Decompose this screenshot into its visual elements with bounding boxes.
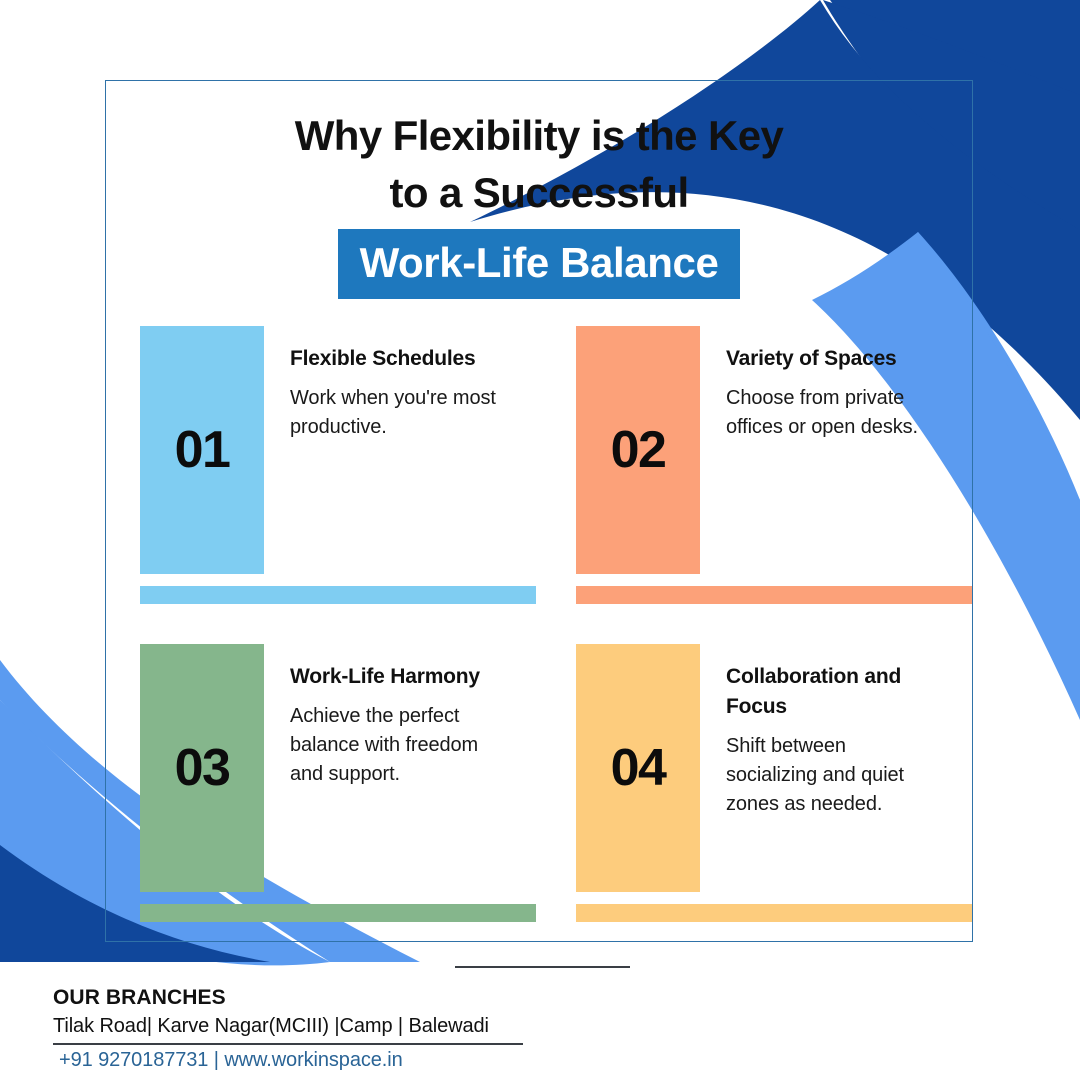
card-underline-bar xyxy=(576,586,972,604)
title-line-2: to a Successful xyxy=(105,165,973,222)
card-underline-bar xyxy=(576,904,972,922)
card-number: 04 xyxy=(611,742,666,794)
card-number: 03 xyxy=(175,742,230,794)
card-number-block: 04 xyxy=(576,644,700,892)
title-line-1: Why Flexibility is the Key xyxy=(105,108,973,165)
contact-line[interactable]: +91 9270187731 | www.workinspace.in xyxy=(53,1047,533,1073)
card-description: Choose from private offices or open desk… xyxy=(726,384,941,442)
footer-divider xyxy=(455,966,630,968)
feature-card-03: 03 Work-Life Harmony Achieve the perfect… xyxy=(140,644,536,922)
card-text: Variety of Spaces Choose from private of… xyxy=(700,326,972,574)
feature-card-02: 02 Variety of Spaces Choose from private… xyxy=(576,326,972,604)
branches-rule xyxy=(53,1043,523,1045)
branches-heading: OUR BRANCHES xyxy=(53,985,533,1011)
card-text: Collaboration and Focus Shift between so… xyxy=(700,644,972,892)
branches-block: OUR BRANCHES Tilak Road| Karve Nagar(MCI… xyxy=(53,985,533,1073)
card-text: Flexible Schedules Work when you're most… xyxy=(264,326,536,574)
feature-card-01: 01 Flexible Schedules Work when you're m… xyxy=(140,326,536,604)
card-body: 04 Collaboration and Focus Shift between… xyxy=(576,644,972,892)
card-text: Work-Life Harmony Achieve the perfect ba… xyxy=(264,644,536,892)
branches-list: Tilak Road| Karve Nagar(MCIII) |Camp | B… xyxy=(53,1013,533,1039)
footer: OUR BRANCHES Tilak Road| Karve Nagar(MCI… xyxy=(0,985,1080,1080)
feature-card-grid: 01 Flexible Schedules Work when you're m… xyxy=(140,326,972,922)
card-title: Work-Life Harmony xyxy=(290,662,495,692)
page-title: Why Flexibility is the Key to a Successf… xyxy=(105,108,973,299)
card-description: Shift between socializing and quiet zone… xyxy=(726,732,941,819)
card-number-block: 01 xyxy=(140,326,264,574)
card-number-block: 03 xyxy=(140,644,264,892)
card-title: Variety of Spaces xyxy=(726,344,931,374)
title-highlight-wrap: Work-Life Balance xyxy=(105,229,973,299)
feature-card-04: 04 Collaboration and Focus Shift between… xyxy=(576,644,972,922)
card-body: 03 Work-Life Harmony Achieve the perfect… xyxy=(140,644,536,892)
card-underline-bar xyxy=(140,586,536,604)
poster-canvas: Why Flexibility is the Key to a Successf… xyxy=(0,0,1080,1080)
card-description: Work when you're most productive. xyxy=(290,384,505,442)
card-body: 02 Variety of Spaces Choose from private… xyxy=(576,326,972,574)
card-title: Flexible Schedules xyxy=(290,344,495,374)
card-underline-bar xyxy=(140,904,536,922)
title-highlight: Work-Life Balance xyxy=(338,229,741,299)
card-body: 01 Flexible Schedules Work when you're m… xyxy=(140,326,536,574)
card-description: Achieve the perfect balance with freedom… xyxy=(290,702,505,789)
card-number: 02 xyxy=(611,424,666,476)
card-number: 01 xyxy=(175,424,230,476)
card-title: Collaboration and Focus xyxy=(726,662,931,722)
card-number-block: 02 xyxy=(576,326,700,574)
